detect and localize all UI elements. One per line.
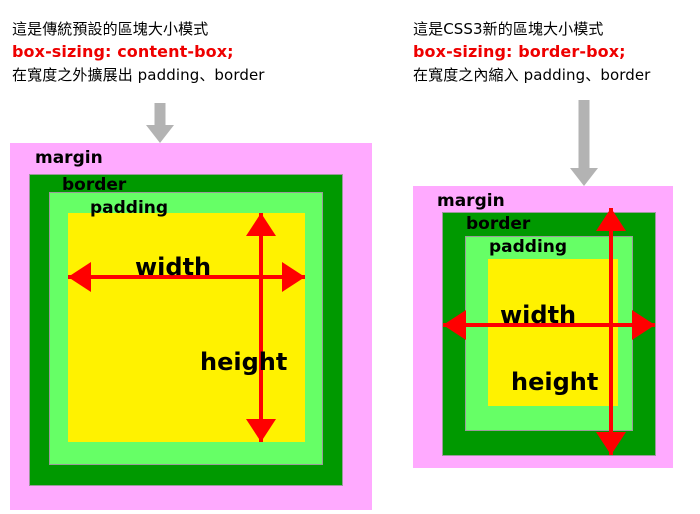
arrow-shaft [155, 103, 166, 127]
arrow-head-top [596, 208, 626, 231]
arrow-head [146, 125, 174, 143]
caption-left-line3: 在寬度之外擴展出 padding、border [12, 68, 265, 83]
layer-label-padding-left: padding [90, 200, 168, 217]
width-label-right: width [500, 303, 576, 327]
arrow-head-right [282, 262, 305, 292]
layer-label-padding-right: padding [489, 239, 567, 256]
arrow-bar [259, 213, 263, 442]
layer-label-border-left: border [62, 177, 126, 194]
width-label-left: width [135, 255, 211, 279]
layer-label-margin-left: margin [35, 150, 103, 167]
arrow-head-bottom [246, 419, 276, 442]
height-measure-arrow-right [596, 208, 626, 455]
arrow-head-left [68, 262, 91, 292]
layer-label-border-right: border [466, 216, 530, 233]
arrow-bar [609, 208, 613, 455]
arrow-head-bottom [596, 432, 626, 455]
arrow-head-left [443, 310, 466, 340]
arrow-head [570, 168, 598, 186]
arrow-down-icon-left [144, 103, 176, 143]
caption-right-code: box-sizing: border-box; [413, 44, 650, 60]
arrow-head-right [632, 310, 655, 340]
caption-content-box: 這是傳統預設的區塊大小模式 box-sizing: content-box; 在… [12, 22, 265, 83]
arrow-shaft [579, 100, 590, 170]
caption-border-box: 這是CSS3新的區塊大小模式 box-sizing: border-box; 在… [413, 22, 650, 83]
arrow-head-top [246, 213, 276, 236]
caption-right-line3: 在寬度之內縮入 padding、border [413, 68, 650, 83]
arrow-down-icon-right [568, 100, 600, 186]
layer-label-margin-right: margin [437, 193, 505, 210]
height-label-right: height [511, 370, 598, 394]
height-measure-arrow-left [246, 213, 276, 442]
caption-left-line1: 這是傳統預設的區塊大小模式 [12, 22, 265, 37]
diagram-canvas: 這是傳統預設的區塊大小模式 box-sizing: content-box; 在… [0, 0, 700, 514]
caption-left-code: box-sizing: content-box; [12, 44, 265, 60]
height-label-left: height [200, 350, 287, 374]
caption-right-line1: 這是CSS3新的區塊大小模式 [413, 22, 650, 37]
